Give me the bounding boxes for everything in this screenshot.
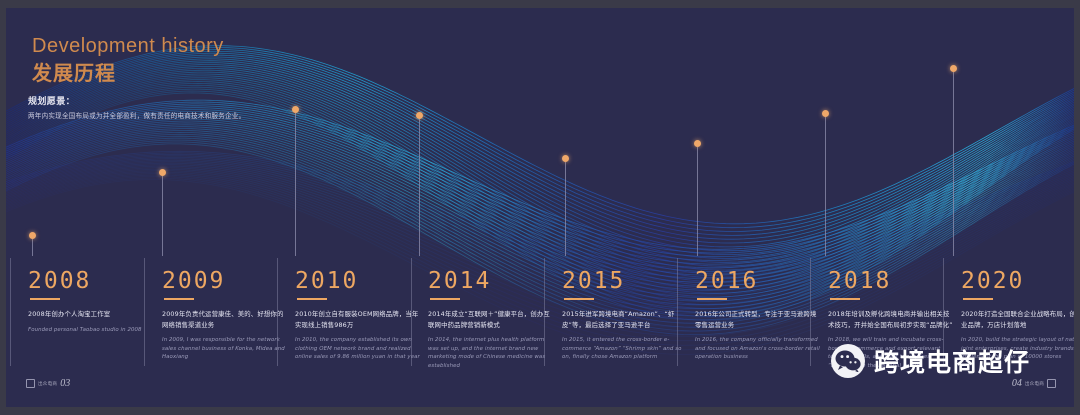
timeline-year-label: 2008: [28, 270, 156, 293]
timeline-dot-2016[interactable]: [694, 140, 701, 147]
timeline-year-label: 2016: [695, 270, 823, 293]
vision-block: 规划愿景： 两年内实现全国布局或为并全部盈利，做有责任的电商技术和服务企业。: [28, 94, 245, 121]
vision-label: 规划愿景：: [28, 94, 245, 107]
footer-right-brand: 出众电商: [1025, 381, 1044, 387]
timeline-description-en: In 2010, the company established its own…: [295, 336, 423, 362]
timeline-dot-2018[interactable]: [822, 110, 829, 117]
timeline-dot-2020[interactable]: [950, 65, 957, 72]
timeline-description-en: In 2015, it entered the cross-border e-c…: [562, 336, 690, 362]
year-underline: [430, 298, 460, 300]
timeline-dot-2010[interactable]: [292, 106, 299, 113]
timeline-stem: [32, 239, 33, 256]
column-divider: [411, 258, 412, 366]
watermark-text: 跨境电商超仔: [874, 343, 1030, 379]
timeline-description-cn: 2010年创立自有服装OEM网络品牌，当年实现线上销售986万: [295, 309, 423, 330]
vision-text: 两年内实现全国布局或为并全部盈利，做有责任的电商技术和服务企业。: [28, 112, 245, 121]
brand-mark-icon: [1047, 379, 1056, 388]
timeline-entry-2008: 20082008年创办个人淘宝工作室Founded personal Taoba…: [28, 270, 156, 334]
timeline-description-cn: 2016年公司正式转型，专注于亚马逊跨境零售运营业务: [695, 309, 823, 330]
brand-mark-icon: [26, 379, 35, 388]
timeline-description-en: In 2009, I was responsible for the netwo…: [162, 336, 290, 362]
timeline-description-cn: 2014年成立“互联网＋”健康平台，创办互联网中药品牌营销新模式: [428, 309, 556, 330]
footer-right-page: 04: [1012, 378, 1022, 389]
watermark: 跨境电商超仔: [831, 343, 1030, 379]
year-underline: [297, 298, 327, 300]
timeline-year-label: 2020: [961, 270, 1074, 293]
year-underline: [30, 298, 60, 300]
timeline-entry-2014: 20142014年成立“互联网＋”健康平台，创办互联网中药品牌营销新模式In 2…: [428, 270, 556, 371]
timeline-stem: [697, 147, 698, 256]
page-title-en: Development history: [32, 34, 224, 59]
timeline-dot-2009[interactable]: [159, 169, 166, 176]
timeline-description-cn: 2018年培训及孵化跨境电商并输出相关技术技巧，开并始全国布局初步实现“品牌化”: [828, 309, 956, 330]
footer-right: 04 出众电商: [1012, 378, 1056, 389]
timeline-description-en: In 2014, the internet plus health platfo…: [428, 336, 556, 371]
column-divider: [810, 258, 811, 366]
column-divider: [10, 258, 11, 366]
year-underline: [564, 298, 594, 300]
column-divider: [144, 258, 145, 366]
timeline-entry-2010: 20102010年创立自有服装OEM网络品牌，当年实现线上销售986万In 20…: [295, 270, 423, 362]
page-title-block: Development history 发展历程: [32, 34, 224, 86]
timeline-stem: [419, 119, 420, 256]
timeline-dot-2008[interactable]: [29, 232, 36, 239]
timeline-year-label: 2010: [295, 270, 423, 293]
timeline-description-en: Founded personal Taobao studio in 2008: [28, 326, 156, 335]
footer-left-brand: 出众电商: [38, 381, 57, 387]
slide-canvas: Development history 发展历程 规划愿景： 两年内实现全国布局…: [6, 8, 1074, 407]
year-underline: [697, 298, 727, 300]
timeline-description-en: In 2016, the company officially transfor…: [695, 336, 823, 362]
footer-left: 出众电商 03: [26, 378, 70, 389]
timeline-stem: [162, 176, 163, 256]
timeline-dot-2015[interactable]: [562, 155, 569, 162]
timeline-stem: [295, 113, 296, 256]
timeline-stem: [565, 162, 566, 256]
year-underline: [963, 298, 993, 300]
timeline-entry-2015: 20152015年进军跨境电商“Amazon”、“虾皮”等，最后选择了亚马逊平台…: [562, 270, 690, 362]
timeline-description-cn: 2008年创办个人淘宝工作室: [28, 309, 156, 320]
timeline-description-cn: 2009年负责代运营康佳、美的、好想你的网络销售渠道业务: [162, 309, 290, 330]
timeline-stem: [825, 117, 826, 256]
column-divider: [544, 258, 545, 366]
timeline-year-label: 2014: [428, 270, 556, 293]
timeline-entry-2009: 20092009年负责代运营康佳、美的、好想你的网络销售渠道业务In 2009,…: [162, 270, 290, 362]
footer-left-page: 03: [60, 378, 70, 389]
page-title-cn: 发展历程: [32, 60, 224, 86]
timeline-entry-2016: 20162016年公司正式转型，专注于亚马逊跨境零售运营业务In 2016, t…: [695, 270, 823, 362]
timeline-year-label: 2018: [828, 270, 956, 293]
timeline-description-cn: 2015年进军跨境电商“Amazon”、“虾皮”等，最后选择了亚马逊平台: [562, 309, 690, 330]
timeline-dot-2014[interactable]: [416, 112, 423, 119]
timeline-stem: [953, 72, 954, 256]
wechat-icon: [831, 344, 865, 378]
column-divider: [277, 258, 278, 366]
year-underline: [164, 298, 194, 300]
timeline-year-label: 2009: [162, 270, 290, 293]
year-underline: [830, 298, 860, 300]
timeline-year-label: 2015: [562, 270, 690, 293]
column-divider: [677, 258, 678, 366]
timeline-description-cn: 2020年打造全国联合企业战略布局，创行业品牌，万店计划落地: [961, 309, 1074, 330]
